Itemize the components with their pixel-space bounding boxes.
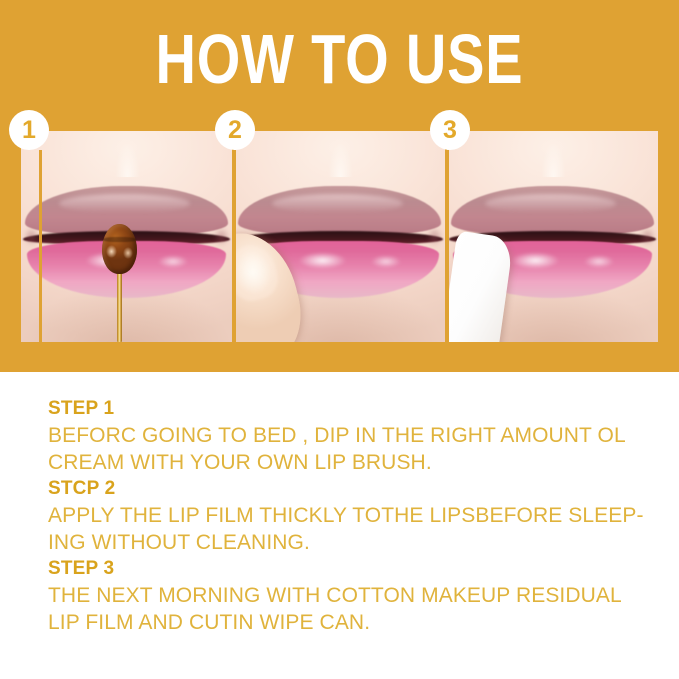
badge-stem-2 xyxy=(233,150,236,342)
photo-panel-2 xyxy=(234,131,445,342)
badge-stem-1 xyxy=(39,150,42,342)
mouth-corner-right xyxy=(211,224,232,249)
step-1-heading: STEP 1 xyxy=(48,396,648,422)
step-item-3: STEP 3 THE NEXT MORNING WITH COTTON MAKE… xyxy=(48,556,648,636)
step-badge-2: 2 xyxy=(215,110,255,150)
badge-stem-3 xyxy=(446,150,449,342)
steps-list: STEP 1 BEFORC GOING TO BED , DIP IN THE … xyxy=(48,396,648,636)
mouth-corner-right xyxy=(637,224,658,249)
step-badge-3: 3 xyxy=(430,110,470,150)
how-to-use-poster: HOW TO USE xyxy=(0,0,679,679)
photo-panel-3 xyxy=(447,131,658,342)
step-2-body: APPLY THE LIP FILM THICKLY TOTHE LIPSBEF… xyxy=(48,502,648,556)
step-2-heading: STCP 2 xyxy=(48,476,648,502)
step-item-2: STCP 2 APPLY THE LIP FILM THICKLY TOTHE … xyxy=(48,476,648,556)
mouth-corner-right xyxy=(424,224,445,249)
photo-panel-1 xyxy=(21,131,232,342)
applicator-wand-highlight-left xyxy=(106,245,117,258)
photo-strip xyxy=(21,131,658,342)
philtrum-highlight xyxy=(114,131,141,177)
step-badge-1: 1 xyxy=(9,110,49,150)
philtrum-highlight xyxy=(327,131,354,177)
applicator-wand-band xyxy=(103,237,136,242)
step-1-body: BEFORC GOING TO BED , DIP IN THE RIGHT A… xyxy=(48,422,648,476)
page-title: HOW TO USE xyxy=(68,24,611,94)
step-3-body: THE NEXT MORNING WITH COTTON MAKEUP RESI… xyxy=(48,582,648,636)
philtrum-highlight xyxy=(540,131,567,177)
applicator-wand-highlight-right xyxy=(123,247,132,259)
step-item-1: STEP 1 BEFORC GOING TO BED , DIP IN THE … xyxy=(48,396,648,476)
step-3-heading: STEP 3 xyxy=(48,556,648,582)
